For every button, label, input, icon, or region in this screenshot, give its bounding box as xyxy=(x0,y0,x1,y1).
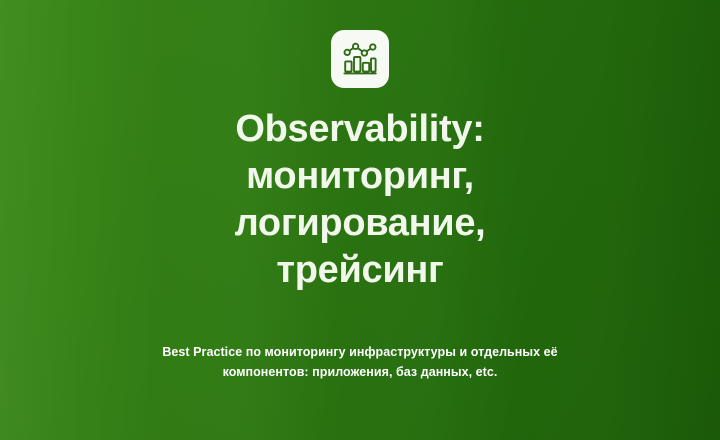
analytics-chart-icon xyxy=(342,42,378,76)
subtitle-line-2: компонентов: приложения, баз данных, etc… xyxy=(125,362,595,382)
title-line-3: логирование, xyxy=(0,200,720,247)
analytics-chart-icon-badge xyxy=(331,30,389,88)
title-line-1: Observability: xyxy=(0,106,720,153)
slide-content: Observability: мониторинг, логирование, … xyxy=(0,0,720,395)
slide-subtitle: Best Practice по мониторингу инфраструкт… xyxy=(125,342,595,382)
slide-title: Observability: мониторинг, логирование, … xyxy=(0,106,720,294)
subtitle-line-1: Best Practice по мониторингу инфраструкт… xyxy=(125,342,595,362)
title-line-4: трейсинг xyxy=(0,247,720,294)
title-slide: Observability: мониторинг, логирование, … xyxy=(0,0,720,440)
title-line-2: мониторинг, xyxy=(0,153,720,200)
